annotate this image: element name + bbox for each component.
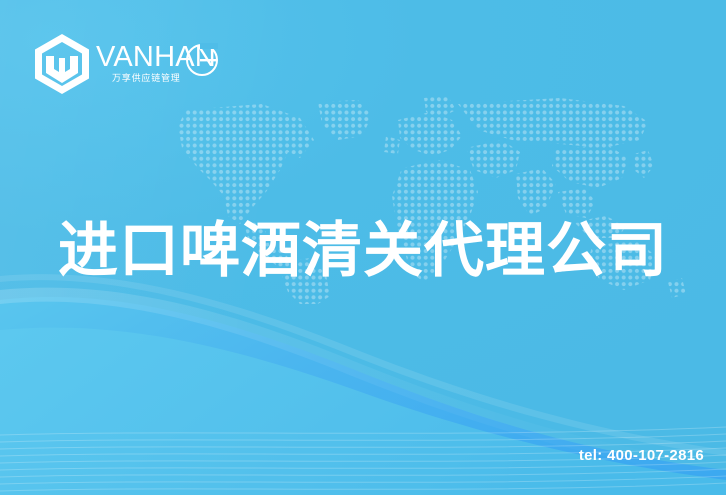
hexagon-u-mark-icon xyxy=(32,33,92,95)
page-title: 进口啤酒清关代理公司 xyxy=(0,214,726,288)
contact-phone: tel: 400-107-2816 xyxy=(579,447,704,464)
brand-logo[interactable]: VANHAN 万享供应链管理 xyxy=(32,33,220,95)
wordmark-g-gap xyxy=(200,43,218,49)
wordmark-g-bar xyxy=(200,59,216,61)
brand-wordmark: VANHAN 万享供应链管理 xyxy=(96,33,220,95)
wordmark-subtitle: 万享供应链管理 xyxy=(112,72,181,84)
promo-banner: VANHAN 万享供应链管理 进口啤酒清关代理公司 tel: 400-107-2… xyxy=(0,0,726,495)
